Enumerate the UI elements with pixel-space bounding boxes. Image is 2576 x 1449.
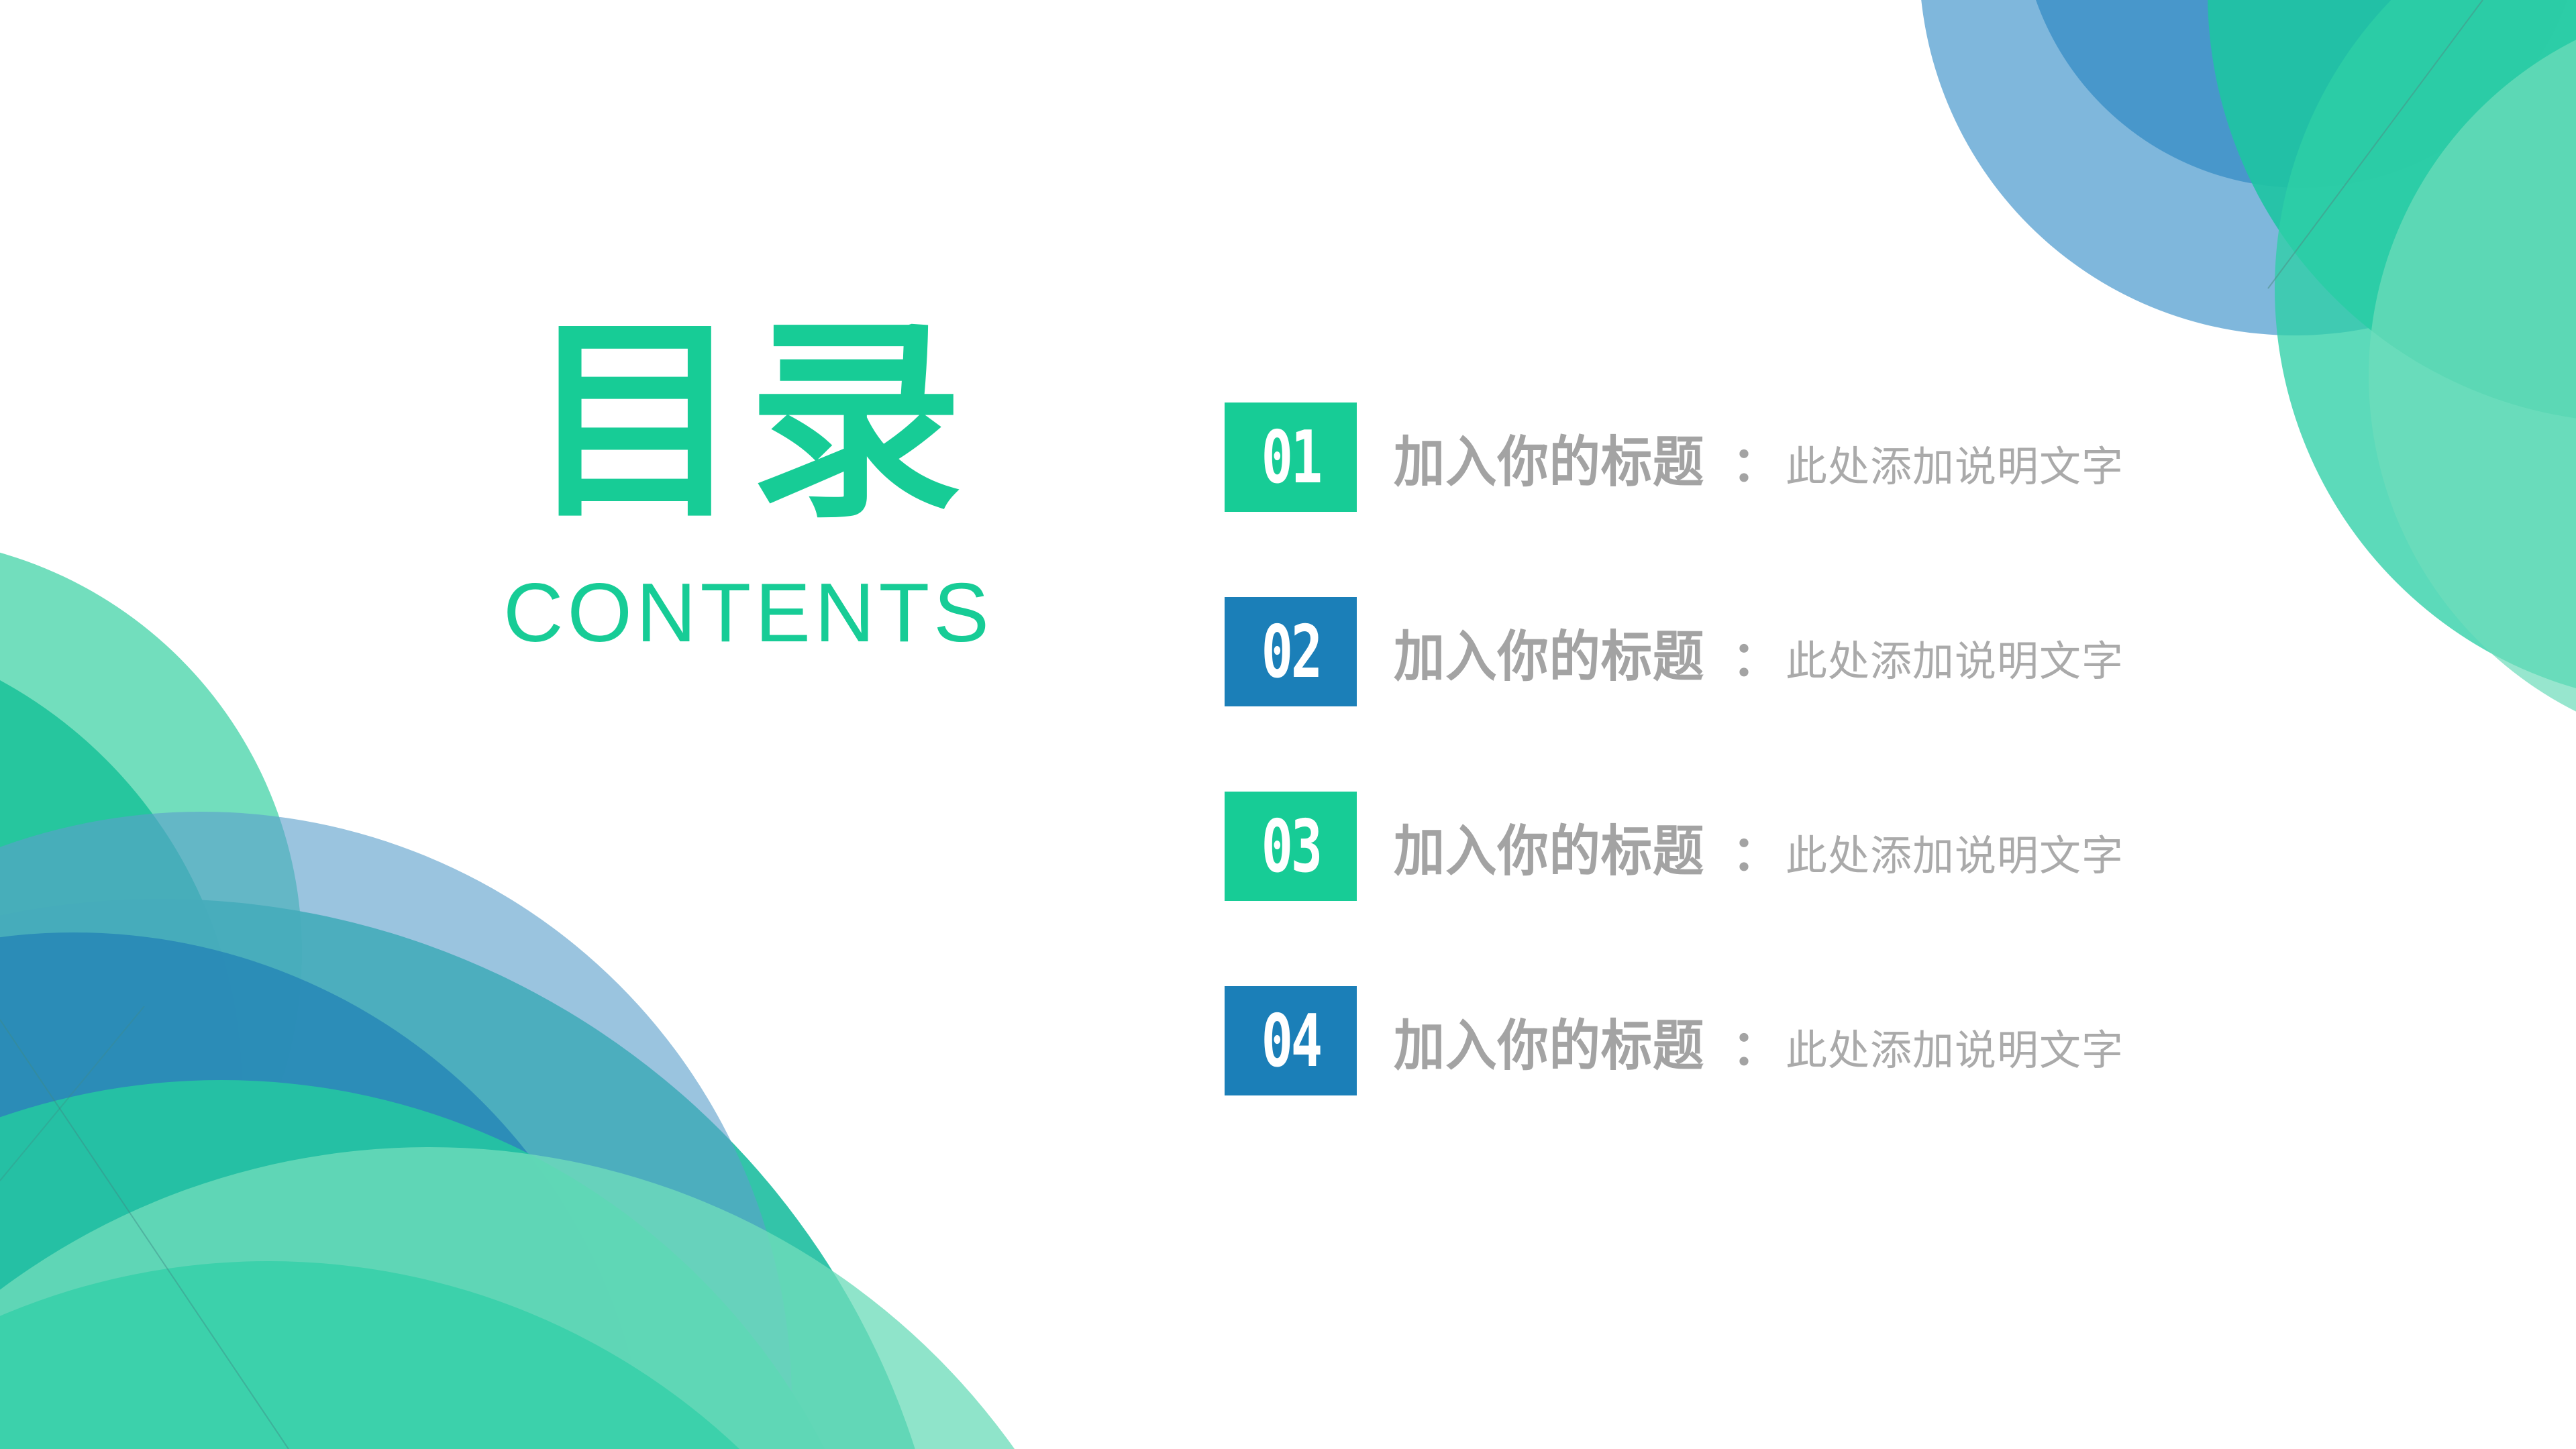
item-number-badge: 04 <box>1225 986 1357 1095</box>
item-text-group: 加入你的标题 ： 此处添加说明文字 <box>1394 806 2124 886</box>
deco-hairline-bl-1 <box>0 1020 289 1449</box>
deco-circle-blue-light <box>1919 0 2576 335</box>
item-description: 此处添加说明文字 <box>1786 1016 2124 1077</box>
contents-list: 01 加入你的标题 ： 此处添加说明文字 02 加入你的标题 ： 此处添加说明文… <box>1225 402 2500 1095</box>
item-number-badge: 02 <box>1225 597 1357 706</box>
contents-title-block: 目录 CONTENTS <box>463 315 1033 655</box>
deco-hairline-top <box>2268 0 2483 288</box>
deco-circle-bl-teal-large <box>0 899 953 1449</box>
item-title: 加入你的标题 <box>1394 612 1704 692</box>
list-item[interactable]: 04 加入你的标题 ： 此处添加说明文字 <box>1225 986 2500 1095</box>
deco-circle-blue-solid <box>2020 0 2576 188</box>
deco-circle-bl-blue-deep <box>0 932 651 1449</box>
list-item[interactable]: 01 加入你的标题 ： 此处添加说明文字 <box>1225 402 2500 512</box>
deco-circle-bl-green-deep <box>0 624 242 1449</box>
item-number-label: 01 <box>1261 421 1320 494</box>
item-text-group: 加入你的标题 ： 此处添加说明文字 <box>1394 612 2124 692</box>
bottom-left-decoration <box>0 537 1147 1449</box>
list-item[interactable]: 03 加入你的标题 ： 此处添加说明文字 <box>1225 792 2500 901</box>
item-description: 此处添加说明文字 <box>1786 627 2124 688</box>
item-text-group: 加入你的标题 ： 此处添加说明文字 <box>1394 417 2124 497</box>
item-separator: ： <box>1732 1008 1780 1079</box>
page-title-en: CONTENTS <box>463 572 1033 655</box>
deco-circle-teal <box>2208 0 2576 423</box>
deco-circle-bl-green-bottom <box>0 1261 953 1449</box>
deco-circle-bl-green-sweep <box>0 1080 899 1449</box>
deco-hairline-bl-2 <box>0 1006 144 1181</box>
item-title: 加入你的标题 <box>1394 806 1704 886</box>
item-title: 加入你的标题 <box>1394 417 1704 497</box>
deco-circle-bl-green-pale <box>0 1147 1147 1449</box>
deco-circle-bl-green-light <box>0 537 302 1368</box>
item-description: 此处添加说明文字 <box>1786 822 2124 882</box>
item-title: 加入你的标题 <box>1394 1001 1704 1081</box>
item-number-label: 03 <box>1261 810 1320 883</box>
item-text-group: 加入你的标题 ： 此处添加说明文字 <box>1394 1001 2124 1081</box>
item-separator: ： <box>1732 814 1780 884</box>
item-number-label: 02 <box>1261 616 1320 688</box>
page-title-cn: 目录 <box>463 315 1033 530</box>
deco-circle-bl-blue-light <box>0 812 792 1449</box>
item-description: 此处添加说明文字 <box>1786 433 2124 493</box>
item-number-badge: 01 <box>1225 402 1357 512</box>
item-separator: ： <box>1732 425 1780 495</box>
list-item[interactable]: 02 加入你的标题 ： 此处添加说明文字 <box>1225 597 2500 706</box>
item-number-label: 04 <box>1261 1005 1320 1077</box>
item-number-badge: 03 <box>1225 792 1357 901</box>
slide-canvas: 目录 CONTENTS 01 加入你的标题 ： 此处添加说明文字 02 加入你的… <box>0 0 2576 1449</box>
item-separator: ： <box>1732 619 1780 690</box>
